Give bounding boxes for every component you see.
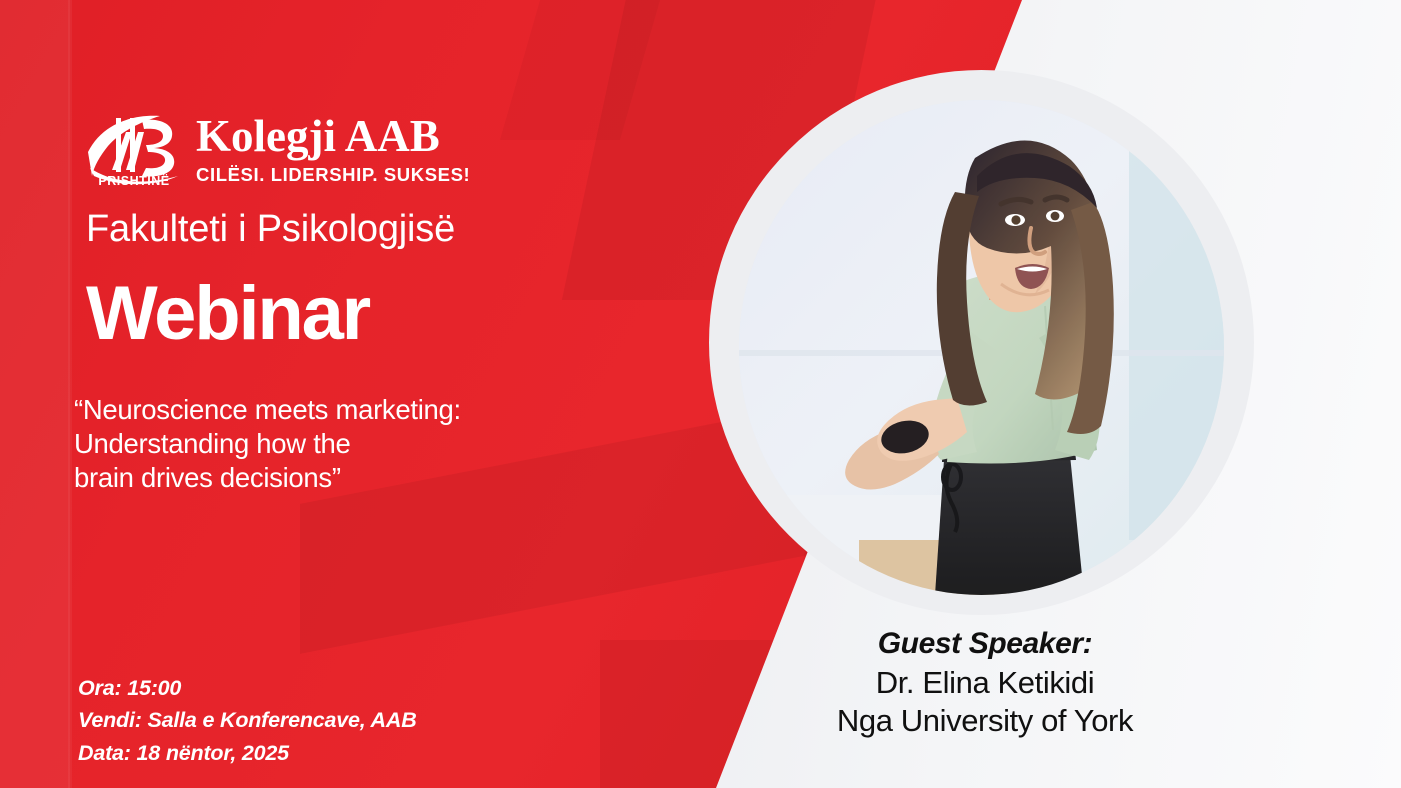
speaker-organization: Nga University of York bbox=[760, 702, 1210, 740]
quote-line: Understanding how the bbox=[74, 427, 461, 461]
detail-value-venue: Salla e Konferencave, AAB bbox=[147, 708, 416, 732]
detail-value-time: 15:00 bbox=[127, 676, 181, 700]
detail-row-time: Ora: 15:00 bbox=[78, 672, 417, 704]
brand-tagline: CILËSI. LIDERSHIP. SUKSES! bbox=[196, 164, 470, 186]
webinar-topic-quote: “Neuroscience meets marketing: Understan… bbox=[74, 393, 461, 495]
detail-value-date: 18 nëntor, 2025 bbox=[137, 741, 289, 765]
left-content: PRISHTINË Kolegji AAB CILËSI. LIDERSHIP.… bbox=[0, 0, 700, 788]
brand-name: Kolegji AAB bbox=[196, 114, 470, 159]
brand-wordmark: Kolegji AAB CILËSI. LIDERSHIP. SUKSES! bbox=[196, 114, 470, 186]
aab-monogram-logo: PRISHTINË bbox=[86, 112, 182, 188]
svg-text:PRISHTINË: PRISHTINË bbox=[98, 173, 169, 188]
event-type-title: Webinar bbox=[86, 276, 369, 352]
detail-row-venue: Vendi: Salla e Konferencave, AAB bbox=[78, 704, 417, 736]
detail-label-venue: Vendi: bbox=[78, 708, 142, 732]
webinar-poster: PRISHTINË Kolegji AAB CILËSI. LIDERSHIP.… bbox=[0, 0, 1401, 788]
quote-line: brain drives decisions” bbox=[74, 461, 461, 495]
detail-label-time: Ora: bbox=[78, 676, 121, 700]
brand-logo-lockup: PRISHTINË Kolegji AAB CILËSI. LIDERSHIP.… bbox=[86, 112, 470, 188]
event-details: Ora: 15:00 Vendi: Salla e Konferencave, … bbox=[78, 672, 417, 769]
speaker-label: Guest Speaker: bbox=[760, 625, 1210, 662]
detail-row-date: Data: 18 nëntor, 2025 bbox=[78, 737, 417, 769]
detail-label-date: Data: bbox=[78, 741, 131, 765]
faculty-name: Fakulteti i Psikologjisë bbox=[86, 208, 455, 251]
speaker-photo bbox=[739, 100, 1224, 595]
speaker-name: Dr. Elina Ketikidi bbox=[760, 664, 1210, 702]
speaker-caption: Guest Speaker: Dr. Elina Ketikidi Nga Un… bbox=[760, 625, 1210, 740]
quote-line: “Neuroscience meets marketing: bbox=[74, 393, 461, 427]
